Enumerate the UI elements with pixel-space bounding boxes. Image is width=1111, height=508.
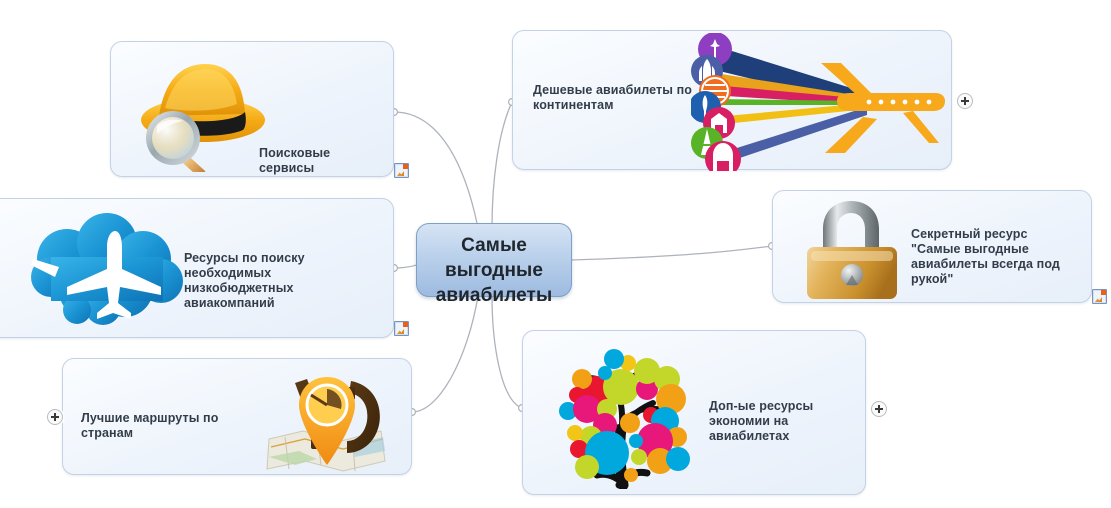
node-extra-saving[interactable]: Доп-ые ресурсы экономии на авиабилетах xyxy=(522,330,866,495)
node-secret-resource[interactable]: Секретный ресурс "Самые выгодные авиабил… xyxy=(772,190,1092,303)
plane-in-clouds-icon xyxy=(15,207,195,331)
node-cheap-by-continent-label: Дешевые авиабилеты по континентам xyxy=(533,83,697,113)
node-secret-resource-label: Секретный ресурс "Самые выгодные авиабил… xyxy=(911,227,1079,287)
mindmap-canvas: Самые выгодные авиабилеты xyxy=(0,0,1111,508)
node-extra-saving-label: Доп-ые ресурсы экономии на авиабилетах xyxy=(709,399,857,444)
central-node-label: Самые выгодные авиабилеты xyxy=(417,233,571,308)
social-media-tree-icon xyxy=(535,337,715,489)
central-label-line-1: Самые xyxy=(417,233,571,258)
node-search-services[interactable]: Поисковые сервисы xyxy=(110,41,394,177)
node-best-routes[interactable]: Лучшие маршруты по странам xyxy=(62,358,412,475)
note-icon-lowcost-airlines[interactable] xyxy=(394,321,409,336)
map-compass-pin-icon xyxy=(255,365,395,475)
central-node[interactable]: Самые выгодные авиабилеты xyxy=(416,223,572,297)
expand-button-cheap-by-continent[interactable] xyxy=(957,93,973,109)
note-icon-secret-resource[interactable] xyxy=(1092,289,1107,304)
expand-button-best-routes[interactable] xyxy=(47,409,63,425)
node-best-routes-label: Лучшие маршруты по странам xyxy=(81,411,267,441)
note-icon-search-services[interactable] xyxy=(394,163,409,178)
node-lowcost-airlines-label: Ресурсы по поиску необходимых низкобюдже… xyxy=(184,251,364,311)
airplane-landmarks-icon xyxy=(691,33,945,171)
central-label-line-3: авиабилеты xyxy=(417,283,571,308)
node-cheap-by-continent[interactable]: Дешевые авиабилеты по континентам xyxy=(512,30,952,170)
node-lowcost-airlines[interactable]: Ресурсы по поиску необходимых низкобюдже… xyxy=(0,198,394,338)
central-label-line-2: выгодные xyxy=(417,258,571,283)
node-search-services-label: Поисковые сервисы xyxy=(259,146,387,176)
expand-button-extra-saving[interactable] xyxy=(871,401,887,417)
padlock-icon xyxy=(797,197,909,301)
